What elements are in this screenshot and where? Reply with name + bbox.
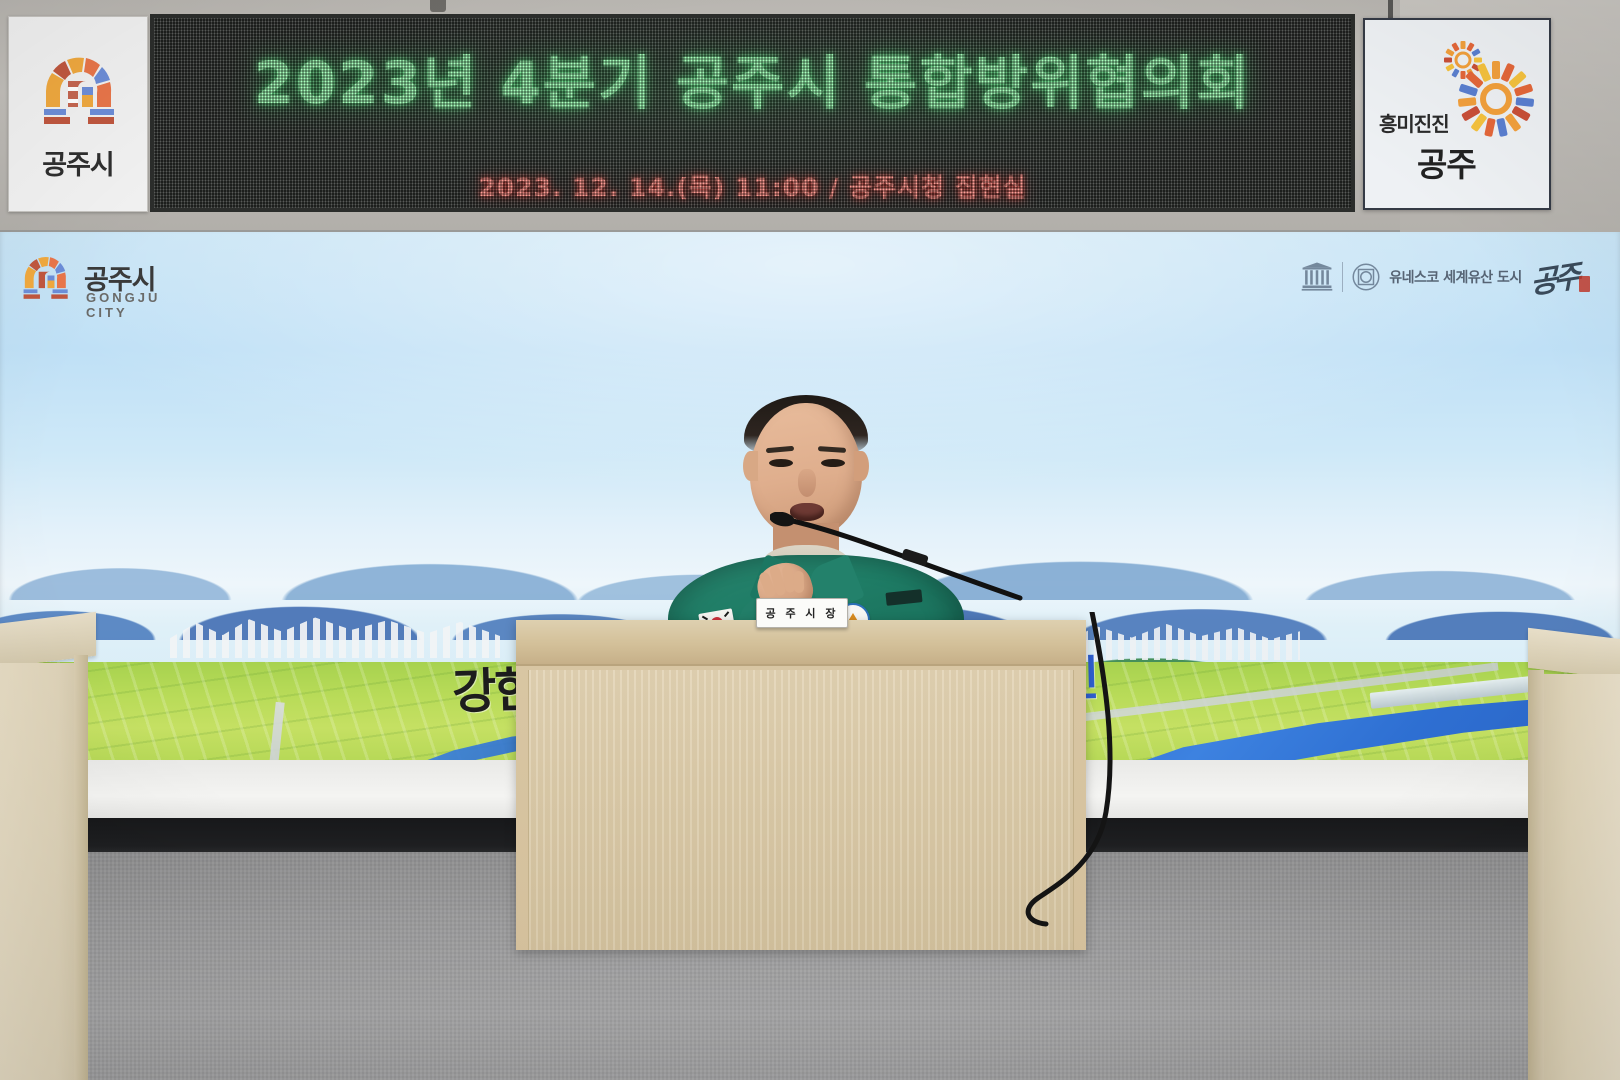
backdrop-brand-block: 공주시 GONGJU CITY xyxy=(12,244,182,310)
sign-mount-bracket-right xyxy=(1388,0,1393,20)
eye-left xyxy=(769,459,793,467)
lectern-right xyxy=(1528,640,1620,1080)
world-heritage-emblem-icon xyxy=(1351,262,1381,292)
led-subtitle-text: 2023. 12. 14.(목) 11:00 / 공주시청 집현실 xyxy=(154,168,1351,204)
lectern-right-edge xyxy=(1528,670,1544,1080)
lectern-left-edge xyxy=(74,655,88,1080)
gongju-calligraphy: 공주 xyxy=(1529,251,1578,303)
flag-trigram-2 xyxy=(724,611,729,617)
desk-front-panel xyxy=(528,670,1074,950)
gongju-arch-icon xyxy=(32,47,124,135)
unesco-divider xyxy=(1342,262,1343,292)
conference-desk: 공 주 시 장 xyxy=(516,620,1086,950)
signboard-assembly: 공주시 2023년 4분기 공주시 통합방위협의회 2023. 12. 14.(… xyxy=(0,0,1560,215)
finger-4 xyxy=(793,571,804,593)
eye-right xyxy=(821,459,845,467)
ear-left xyxy=(743,451,758,481)
lectern-left xyxy=(0,625,96,1080)
logo-panel-right-line1: 흥미진진 xyxy=(1379,108,1491,137)
mouth xyxy=(790,503,824,521)
desk-nameplate: 공 주 시 장 xyxy=(756,598,848,628)
briefing-room-photo: 공주시 2023년 4분기 공주시 통합방위협의회 2023. 12. 14.(… xyxy=(0,0,1620,1080)
led-display-panel: 2023년 4분기 공주시 통합방위협의회 2023. 12. 14.(목) 1… xyxy=(150,14,1355,212)
calligraphy-seal xyxy=(1579,276,1590,292)
desk-nameplate-label: 공 주 시 장 xyxy=(766,605,839,621)
gongju-arch-icon-small xyxy=(16,250,74,306)
logo-panel-right-line2: 공주 xyxy=(1417,138,1476,186)
unesco-temple-icon xyxy=(1300,260,1334,294)
logo-panel-right: 흥미진진 공주 xyxy=(1363,18,1551,210)
led-title-text: 2023년 4분기 공주시 통합방위협의회 xyxy=(154,36,1351,120)
unesco-heritage-block: 유네스코 세계유산 도시 공주 xyxy=(1300,248,1590,306)
nose xyxy=(798,469,816,497)
logo-panel-left: 공주시 xyxy=(8,16,148,212)
unesco-label: 유네스코 세계유산 도시 xyxy=(1389,267,1522,287)
sign-mount-bracket-left xyxy=(430,0,446,12)
ear-right xyxy=(854,451,869,481)
logo-panel-left-label: 공주시 xyxy=(42,143,114,182)
backdrop-brand-en: GONGJU CITY xyxy=(86,290,182,320)
